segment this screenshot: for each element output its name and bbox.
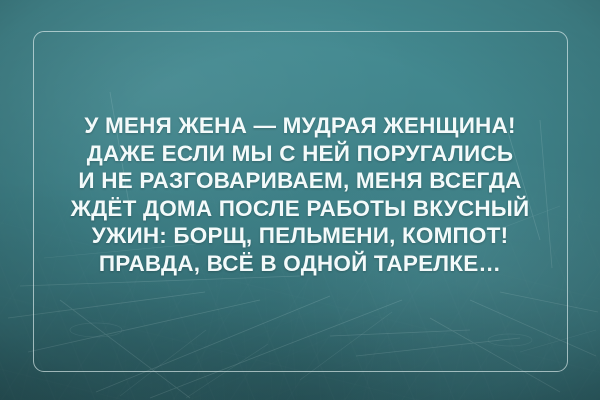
quote-line-6: ПРАВДА, ВСЁ В ОДНОЙ ТАРЕЛКЕ…	[0, 250, 600, 278]
quote-card: У МЕНЯ ЖЕНА — МУДРАЯ ЖЕНЩИНА! ДАЖЕ ЕСЛИ …	[0, 0, 600, 400]
quote-line-3: И НЕ РАЗГОВАРИВАЕМ, МЕНЯ ВСЕГДА	[0, 167, 600, 195]
quote-text: У МЕНЯ ЖЕНА — МУДРАЯ ЖЕНЩИНА! ДАЖЕ ЕСЛИ …	[0, 112, 600, 278]
quote-line-1: У МЕНЯ ЖЕНА — МУДРАЯ ЖЕНЩИНА!	[0, 112, 600, 140]
quote-line-4: ЖДЁТ ДОМА ПОСЛЕ РАБОТЫ ВКУСНЫЙ	[0, 195, 600, 223]
quote-line-2: ДАЖЕ ЕСЛИ МЫ С НЕЙ ПОРУГАЛИСЬ	[0, 140, 600, 168]
quote-line-5: УЖИН: БОРЩ, ПЕЛЬМЕНИ, КОМПОТ!	[0, 222, 600, 250]
